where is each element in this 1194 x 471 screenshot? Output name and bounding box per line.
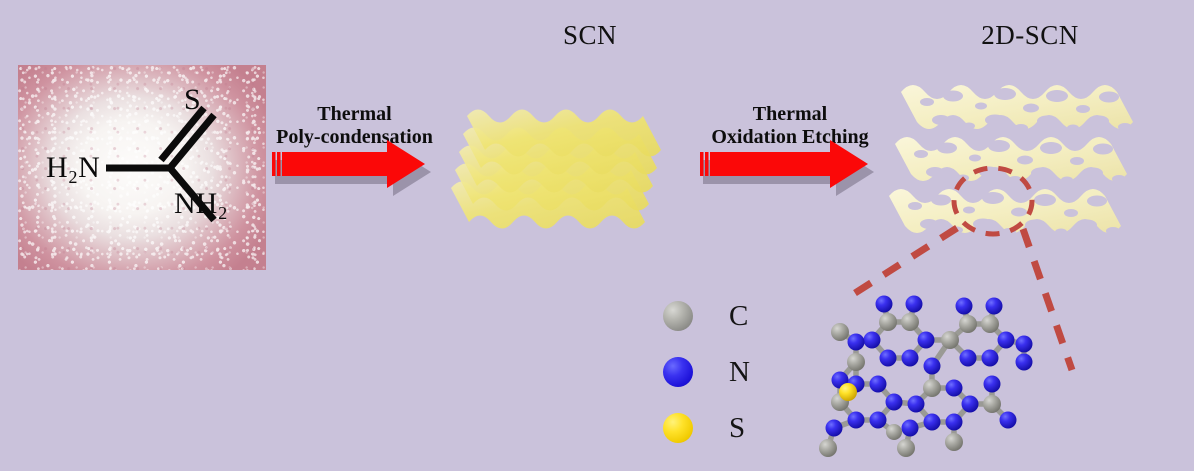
two-d-scn-porous-sheets — [885, 70, 1185, 260]
legend-item-nitrogen: N — [663, 344, 750, 400]
sulfur-doped-carbon-nitride-lattice — [810, 280, 1080, 470]
atom-legend: C N S — [663, 288, 750, 456]
reaction-step-poly-condensation: Thermal Poly-condensation — [272, 88, 437, 196]
reaction-step-oxidation-etching: Thermal Oxidation Etching — [700, 88, 880, 196]
red-arrow-icon — [700, 88, 880, 196]
formula-label-sulfur: S — [184, 85, 201, 115]
legend-item-carbon: C — [663, 288, 750, 344]
sulfur-sphere-icon — [663, 413, 693, 443]
legend-item-sulfur: S — [663, 400, 750, 456]
stage-title-2d-scn: 2D-SCN — [930, 20, 1130, 51]
stage-title-scn: SCN — [500, 20, 680, 51]
carbon-sphere-icon — [663, 301, 693, 331]
red-arrow-icon — [272, 88, 437, 196]
formula-label-amine-left: H₂N — [46, 153, 100, 183]
atom-group — [819, 296, 1033, 458]
scn-stacked-sheets — [445, 92, 695, 247]
sulfur-dopant-atom — [839, 383, 857, 401]
legend-label-nitrogen: N — [729, 356, 750, 389]
nitrogen-sphere-icon — [663, 357, 693, 387]
thiourea-powder-photo: H₂N S NH₂ — [18, 65, 266, 270]
synthesis-scheme-figure: SCN 2D-SCN H₂N S NH₂ Thermal Poly-conden… — [0, 0, 1194, 471]
legend-label-sulfur: S — [729, 412, 745, 445]
formula-label-amine-right: NH₂ — [174, 189, 228, 219]
legend-label-carbon: C — [729, 300, 748, 333]
